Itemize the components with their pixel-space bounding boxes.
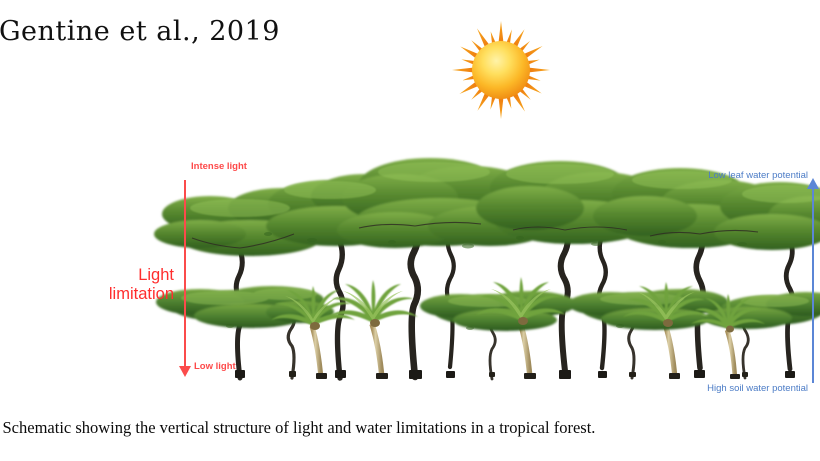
label-low-light: Low light <box>194 361 236 372</box>
slide-canvas: re Gentine et al., 2019 <box>0 0 820 461</box>
light-limitation-arrow-line <box>184 180 186 372</box>
light-limitation-line2: limitation <box>78 285 174 304</box>
figure-caption-text: Schematic showing the vertical structure… <box>3 418 596 437</box>
water-potential-arrow-head-icon <box>807 178 819 189</box>
label-high-soil-water-potential: High soil water potential <box>707 383 808 394</box>
water-potential-arrow-line <box>812 188 814 383</box>
light-limitation-arrow-head-icon <box>179 366 191 377</box>
palm-trunk-bases <box>316 373 740 379</box>
page-title: re Gentine et al., 2019 <box>0 16 440 47</box>
figure-caption: 0. Schematic showing the vertical struct… <box>0 418 806 438</box>
light-limitation-line1: Light <box>78 266 174 285</box>
palm-trunks <box>312 322 735 378</box>
label-light-limitation: Light limitation <box>78 266 174 304</box>
label-intense-light: Intense light <box>191 161 247 172</box>
sun-icon <box>449 18 553 122</box>
label-low-leaf-water-potential: Low leaf water potential <box>708 170 808 181</box>
forest-schematic: Intense light Low light Light limitation… <box>0 130 820 410</box>
